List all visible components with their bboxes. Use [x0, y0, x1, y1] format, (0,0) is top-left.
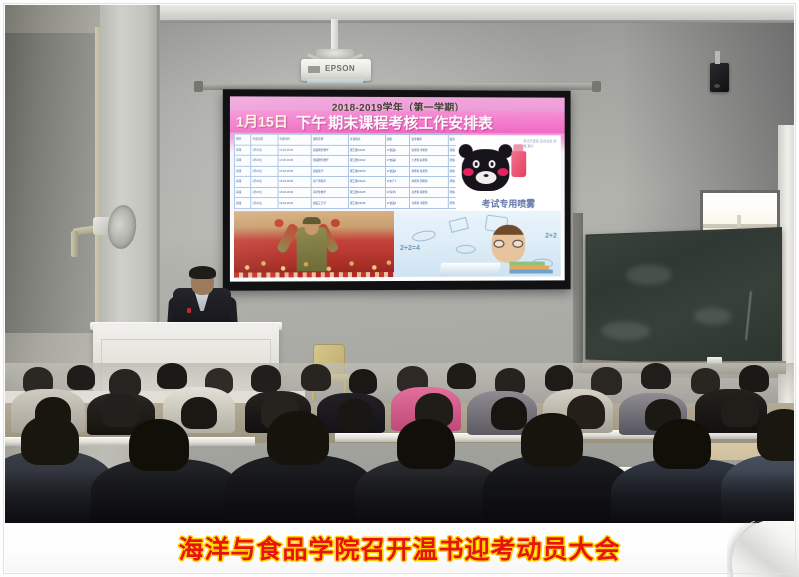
projection-screen: 2018-2019学年（第一学期） 1月15日 下午 期末课程考核工作安排表 校…: [223, 89, 571, 290]
exam-schedule-cell: 食品化学: [311, 166, 348, 177]
exam-schedule-cell: 17食品3: [385, 166, 410, 177]
slide-banner: 1月15日 下午 期末课程考核工作安排表: [230, 110, 565, 133]
chalk-smudge: [626, 264, 671, 285]
exam-schedule-cell: 南湖: [234, 166, 250, 177]
wall-fan-bracket-vertical: [71, 231, 78, 257]
soldier-hand-left: [274, 219, 283, 227]
doodle-shape: [411, 229, 436, 243]
poster-crowd-detail: [234, 253, 397, 274]
book-stack-illustration: [509, 260, 552, 274]
exam-schedule-cell: 南湖: [234, 187, 250, 198]
bear-cheek-right: [498, 168, 509, 176]
exam-schedule-cell: 马老师 冯老师: [410, 198, 448, 209]
slide-banner-date: 1月15日: [236, 111, 288, 131]
bear-nose: [484, 174, 489, 177]
wall-speaker-mount: [715, 51, 720, 64]
audience-head: [301, 364, 331, 391]
exam-schedule-cell: 刘老师 陈老师: [410, 166, 448, 177]
open-book-illustration: [439, 263, 501, 276]
exam-schedule-cell: 孙老师 周老师: [410, 177, 448, 188]
exam-schedule-cell: 吴老师 郑老师: [410, 187, 448, 198]
poster-bottom-strip: [234, 272, 397, 278]
exam-schedule-cell: 张老师 李老师: [410, 145, 448, 156]
mascot-caption: 考试专用喷雾: [458, 197, 559, 210]
bear-pupil-right: [491, 162, 494, 166]
chalk-smudge: [694, 307, 732, 325]
kumamon-bear-icon: [462, 149, 510, 191]
wall-speaker: [710, 63, 729, 92]
projector-vent-icon: [308, 66, 320, 73]
exam-schedule-row: 南湖1月15日16:30-18:30水产养殖学理工楼C210417水产1孙老师 …: [234, 177, 464, 188]
doodle-math-label-2: 2+2: [545, 233, 557, 240]
book-layer: [509, 266, 549, 270]
glasses-lens-right: [512, 240, 523, 248]
exam-schedule-cell: 16:30-18:30: [278, 177, 312, 188]
exam-schedule-cell: 14:00-16:00: [278, 145, 312, 156]
exam-schedule-header-cell: 考试日期: [251, 134, 278, 145]
doodle-shape: [456, 245, 476, 254]
slide-banner-heading: 期末课程考核工作安排表: [328, 111, 493, 132]
soldier-cap: [303, 217, 321, 224]
bear-cheek-left: [463, 168, 474, 176]
bear-ear-left: [459, 144, 473, 158]
exam-schedule-cell: 1月15日: [251, 166, 278, 177]
audience-head: [337, 399, 373, 431]
exam-schedule-header-cell: 监考教师: [410, 135, 448, 146]
blackboard-left-frame: [573, 213, 583, 373]
ceiling-projector: EPSON: [301, 59, 371, 81]
screen-bar-cap-right: [592, 81, 601, 92]
exam-schedule-cell: 17食品4: [385, 198, 410, 209]
mascot-bubble-text: 考试不紧张 答对全会 秒懂 满分: [523, 139, 559, 165]
crowd-foreground-shadow: [5, 471, 794, 523]
bear-eye-right: [489, 160, 496, 168]
photo-frame: EPSON 2018-2019学年（第一学期） 1月15日 下午 期末课程考核工…: [0, 0, 799, 577]
audience-head: [757, 409, 794, 461]
exam-schedule-row: 南湖1月15日14:00-16:00食品微生物学理工楼C210117食品1张老师…: [234, 145, 464, 156]
powerpoint-slide: 2018-2019学年（第一学期） 1月15日 下午 期末课程考核工作安排表 校…: [230, 96, 565, 281]
study-desk-illustration: 2+2=4 2+2: [394, 211, 561, 277]
exam-schedule-row: 南湖1月15日16:30-18:30食品工艺学理工楼C210617食品4马老师 …: [234, 198, 464, 209]
exam-schedule-header-cell: 考试时间: [278, 134, 312, 145]
exam-schedule-cell: 17食品1: [385, 145, 410, 156]
audience-head: [397, 419, 455, 469]
exam-schedule-row: 南湖1月15日14:00-16:00食品化学理工楼C210317食品3刘老师 陈…: [234, 166, 464, 177]
exam-schedule-row: 南湖1月15日14:00-16:00食品微生物学理工楼C210217食品2王老师…: [234, 155, 464, 166]
exam-schedule-table: 校区考试日期考试时间课程名称考试地点班级监考教师备注南湖1月15日14:00-1…: [234, 134, 465, 210]
exam-schedule-cell: 理工楼C2103: [348, 166, 385, 177]
glasses-icon: [494, 240, 524, 248]
exam-schedule-cell: 理工楼C2105: [348, 187, 385, 198]
exam-schedule-cell: 16:30-18:30: [278, 198, 312, 209]
exam-schedule-cell: 理工楼C2101: [348, 145, 385, 156]
exam-schedule-cell: 理工楼C2106: [348, 198, 385, 209]
blackboard: [586, 227, 782, 367]
screen-bar-cap-left: [194, 81, 203, 92]
audience-head: [521, 413, 583, 467]
book-layer: [509, 269, 552, 273]
chalk-streak: [745, 291, 752, 340]
exam-schedule-cell: 1月15日: [251, 198, 278, 209]
audience-head: [157, 363, 187, 389]
audience-head: [129, 419, 189, 471]
exam-schedule-cell: 食品工艺学: [311, 198, 348, 209]
soldier-hand-right: [331, 219, 340, 227]
book-layer: [509, 262, 545, 266]
exam-schedule-cell: 1月15日: [251, 145, 278, 156]
exam-schedule-header-row: 校区考试日期考试时间课程名称考试地点班级监考教师备注: [234, 134, 464, 145]
exam-schedule-cell: 1月15日: [251, 177, 278, 188]
projection-screen-surface: 2018-2019学年（第一学期） 1月15日 下午 期末课程考核工作安排表 校…: [230, 96, 565, 281]
presenter-lapel-badge: [187, 308, 191, 313]
exam-schedule-cell: 南湖: [234, 198, 250, 209]
audience-head: [349, 369, 377, 394]
exam-schedule-cell: 理工楼C2102: [348, 156, 385, 167]
exam-schedule-cell: 1月15日: [251, 187, 278, 198]
audience-head: [491, 397, 527, 430]
audience-head: [21, 415, 79, 465]
speaker-cone-icon: [714, 84, 720, 88]
photo-caption-bar: 海洋与食品学院召开温书迎考动员大会: [5, 524, 794, 572]
exam-schedule-header-cell: 课程名称: [311, 134, 348, 145]
audience-head: [641, 363, 671, 389]
glasses-lens-left: [494, 240, 505, 248]
audience-head: [67, 365, 95, 390]
chalk-smudge: [601, 321, 650, 340]
photo-caption: 海洋与食品学院召开温书迎考动员大会: [178, 530, 620, 566]
student-audience: [5, 363, 794, 523]
doodle-shape: [449, 217, 469, 233]
audience-head: [653, 419, 711, 469]
presenter-hair: [189, 266, 216, 279]
exam-schedule-cell: 16:30-18:30: [278, 187, 312, 198]
exam-schedule-row: 南湖1月15日16:30-18:30海洋生物学理工楼C210517海洋1吴老师 …: [234, 187, 464, 198]
audience-head: [447, 363, 476, 389]
exam-schedule-cell: 17海洋1: [385, 187, 410, 198]
audience-head: [721, 393, 759, 427]
exam-schedule-cell: 南湖: [234, 177, 250, 188]
projector-brand-label: EPSON: [325, 64, 355, 73]
exam-schedule-cell: 海洋生物学: [311, 187, 348, 198]
patriotic-poster-illustration: [234, 211, 397, 278]
audience-head: [101, 393, 139, 427]
exam-schedule-cell: 南湖: [234, 145, 250, 156]
exam-schedule-header-cell: 班级: [385, 134, 410, 145]
exam-schedule-cell: 理工楼C2104: [348, 177, 385, 188]
doodle-math-label-1: 2+2=4: [400, 245, 420, 252]
audience-head: [739, 365, 769, 392]
exam-schedule-cell: 14:00-16:00: [278, 155, 312, 166]
audience-head: [545, 365, 573, 391]
mascot-illustration: 考试不紧张 答对全会 秒懂 满分: [456, 135, 561, 211]
exam-schedule-header-cell: 校区: [234, 134, 250, 145]
bear-ear-right: [498, 144, 512, 158]
spray-bottle-icon: [511, 151, 526, 177]
exam-schedule-cell: 17食品2: [385, 156, 410, 167]
exam-schedule-cell: 17水产1: [385, 177, 410, 188]
exam-schedule-cell: 水产养殖学: [311, 177, 348, 188]
audience-head: [181, 397, 217, 429]
slide-banner-period: 下午: [296, 111, 326, 132]
exam-schedule-cell: 王老师 赵老师: [410, 156, 448, 167]
exam-schedule-cell: 食品微生物学: [311, 145, 348, 156]
audience-head: [251, 365, 281, 392]
bear-pupil-left: [475, 162, 478, 166]
exam-schedule-cell: 南湖: [234, 155, 250, 166]
projector-mount-rod: [331, 19, 338, 51]
bear-eye-left: [473, 160, 480, 168]
audience-head: [267, 411, 329, 465]
bear-muzzle: [476, 171, 497, 184]
exam-schedule-cell: 食品微生物学: [311, 155, 348, 166]
exam-schedule-body: 校区考试日期考试时间课程名称考试地点班级监考教师备注南湖1月15日14:00-1…: [234, 134, 464, 209]
left-doorway: [5, 33, 103, 333]
classroom-photograph: EPSON 2018-2019学年（第一学期） 1月15日 下午 期末课程考核工…: [5, 5, 794, 523]
exam-schedule-cell: 1月15日: [251, 155, 278, 166]
exam-schedule-header-cell: 考试地点: [348, 134, 385, 145]
exam-schedule-cell: 14:00-16:00: [278, 166, 312, 177]
